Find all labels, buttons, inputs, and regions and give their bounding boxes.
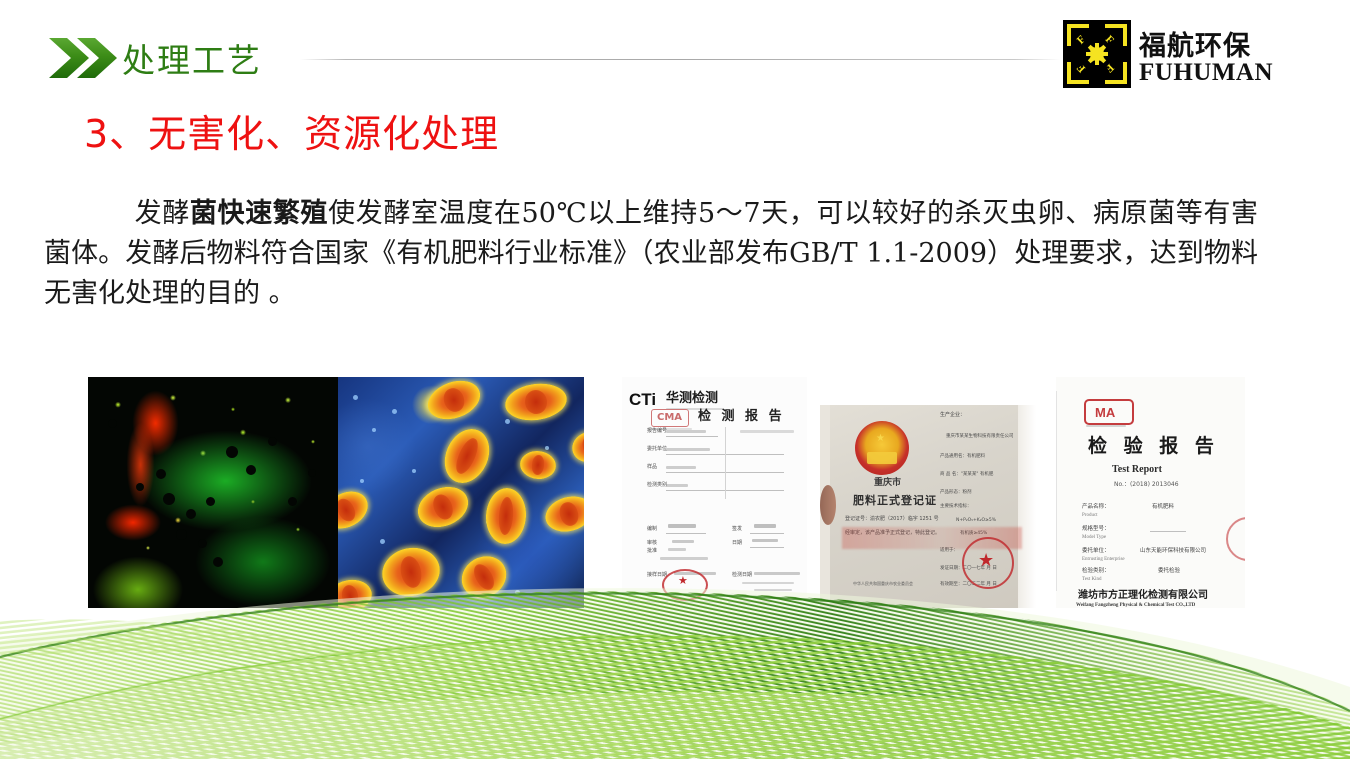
cert-line1: 重庆市	[874, 479, 901, 488]
cti-sign-label: 编制	[647, 527, 657, 532]
ma-row-label-en: Entrusting Enterprise	[1082, 557, 1125, 562]
ma-doc-no: No.：(2018) 2013046	[1114, 482, 1179, 488]
cti-field-label: 报告编号	[647, 429, 667, 434]
ma-row-label-en: Product	[1082, 513, 1098, 518]
cti-sign-label: 日期	[732, 541, 742, 546]
cma-badge: CMA	[651, 409, 689, 427]
paragraph-run-bold: 菌快速繁殖	[190, 198, 328, 229]
cti-field-label: 委托单位	[647, 447, 667, 452]
cti-brand: CTi	[629, 391, 656, 408]
double-chevron-right-icon	[48, 36, 120, 80]
logo-chinese-name: 福航环保	[1139, 24, 1251, 63]
logo-english-name: FUHUMAN	[1139, 59, 1273, 87]
cti-sign-label: 批准	[647, 549, 657, 554]
cert-right-field: 产品通用名：有机肥料	[940, 455, 985, 460]
ma-doc-title-en: Test Report	[1112, 465, 1162, 475]
paragraph-run-1: 发酵	[134, 198, 190, 229]
fuhuman-square-emblem-icon: F F F F	[1063, 20, 1131, 88]
header-divider	[300, 59, 1060, 60]
ma-row-label-en: Model Type	[1082, 535, 1106, 540]
cti-field-label: 样品	[647, 465, 657, 470]
ma-badge: MA	[1084, 399, 1134, 425]
gear-center-icon	[1090, 47, 1104, 61]
company-logo: F F F F 福航环保 FUHUMAN	[1063, 20, 1263, 88]
china-national-emblem-icon: ★	[855, 421, 909, 475]
section-title: 处理工艺	[122, 34, 262, 82]
ma-row-label: 产品名称：	[1082, 505, 1110, 511]
cti-doc-title: 检 测 报 告	[698, 410, 785, 423]
cert-reg-no: 登记证号：渝农肥（2017）临字 1251 号	[845, 517, 939, 522]
cti-brand-cn: 华测检测	[666, 392, 718, 405]
cti-sign-label: 签发	[732, 527, 742, 532]
ma-row-label: 委托单位：	[1082, 549, 1110, 555]
bottom-green-wave-decoration	[0, 569, 1350, 759]
cti-field-label: 检测类别	[647, 483, 667, 488]
ma-row-value: 有机肥料	[1152, 505, 1174, 511]
cert-right-field: 商 品 名："某某某" 有机肥	[940, 473, 993, 478]
cti-sign-label: 审核	[647, 541, 657, 546]
cert-right-field: 产品形态：粉剂	[940, 491, 972, 496]
cert-right-field: 适用于：	[940, 549, 958, 554]
slide-root: 处理工艺 F F F F	[0, 0, 1350, 759]
page-title: 3、无害化、资源化处理	[84, 103, 499, 158]
ma-row-label: 规格型号：	[1082, 527, 1110, 533]
cert-right-field: N+P₂O₅+K₂O≥5%	[956, 519, 996, 524]
cert-right-field: 重庆市某某生物科技有限责任公司	[946, 435, 1014, 440]
cert-right-field: 主要技术指标：	[940, 505, 972, 510]
ma-doc-title: 检 验 报 告	[1088, 437, 1219, 456]
ma-row-value: 山东天能环保科技有限公司	[1140, 549, 1206, 555]
body-paragraph: 发酵菌快速繁殖使发酵室温度在50℃以上维持5～7天，可以较好的杀灭虫卵、病原菌等…	[44, 194, 1258, 314]
slide-header: 处理工艺 F F F F	[0, 0, 1350, 100]
cert-line2: 肥料正式登记证	[853, 495, 937, 506]
cert-right-field: 生产企业：	[940, 413, 965, 418]
